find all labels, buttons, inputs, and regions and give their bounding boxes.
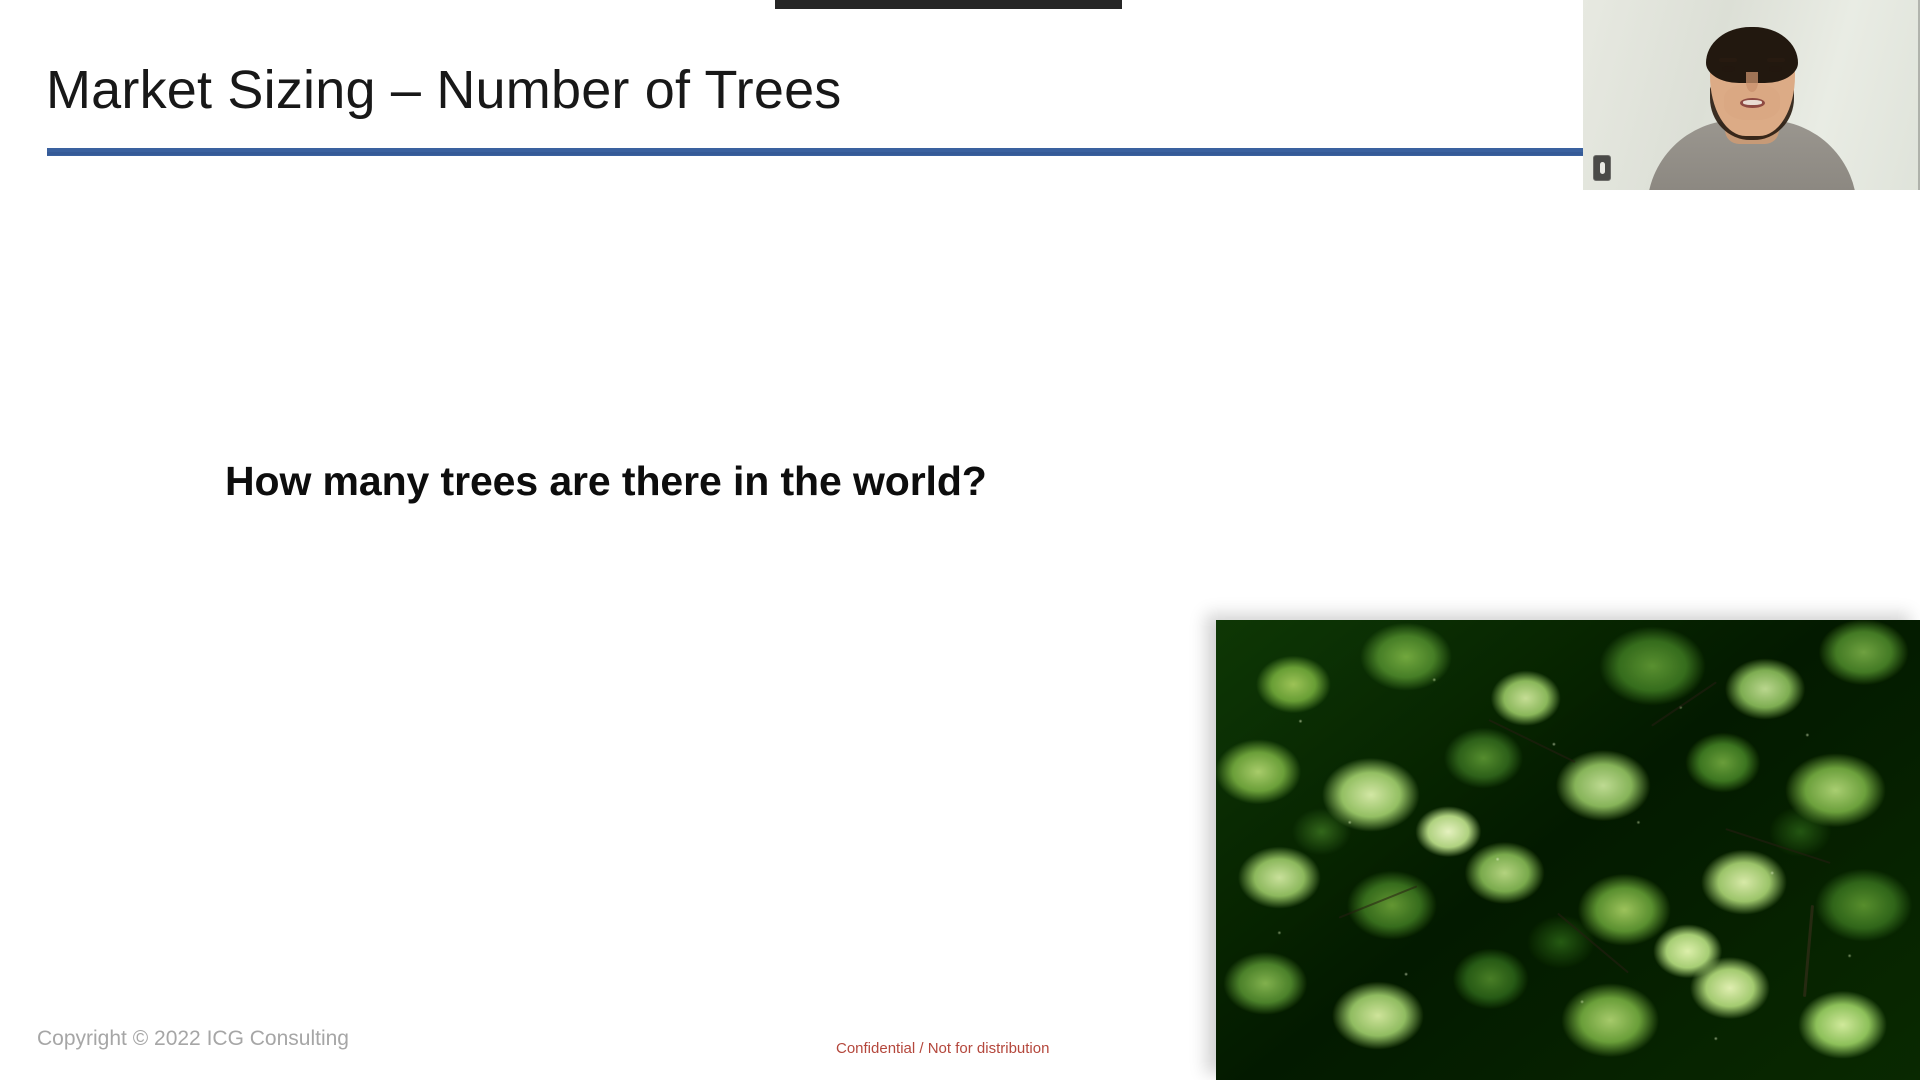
presenter-eyebrow-left <box>1719 58 1737 62</box>
top-toolbar-sliver <box>775 0 1122 9</box>
presenter-eyebrow-right <box>1767 58 1785 62</box>
presenter-nose <box>1746 72 1758 92</box>
presenter-eye-left <box>1722 66 1735 72</box>
presenter-teeth <box>1743 100 1762 105</box>
footer-copyright: Copyright © 2022 ICG Consulting <box>37 1027 349 1051</box>
microphone-icon[interactable] <box>1593 155 1611 181</box>
presenter-eye-right <box>1769 66 1782 72</box>
forest-canopy-highlights <box>1216 620 1920 1080</box>
forest-canopy-image <box>1216 620 1920 1080</box>
microphone-icon-capsule <box>1600 162 1605 174</box>
footer-confidential-notice: Confidential / Not for distribution <box>836 1040 1049 1057</box>
title-divider-accent <box>47 152 1583 155</box>
page-title: Market Sizing – Number of Trees <box>46 60 842 120</box>
webcam-video-overlay[interactable] <box>1583 0 1920 190</box>
webcam-presenter <box>1583 0 1920 190</box>
slide-question-text: How many trees are there in the world? <box>225 458 987 505</box>
presentation-slide: Market Sizing – Number of Trees How many… <box>0 0 1920 1080</box>
